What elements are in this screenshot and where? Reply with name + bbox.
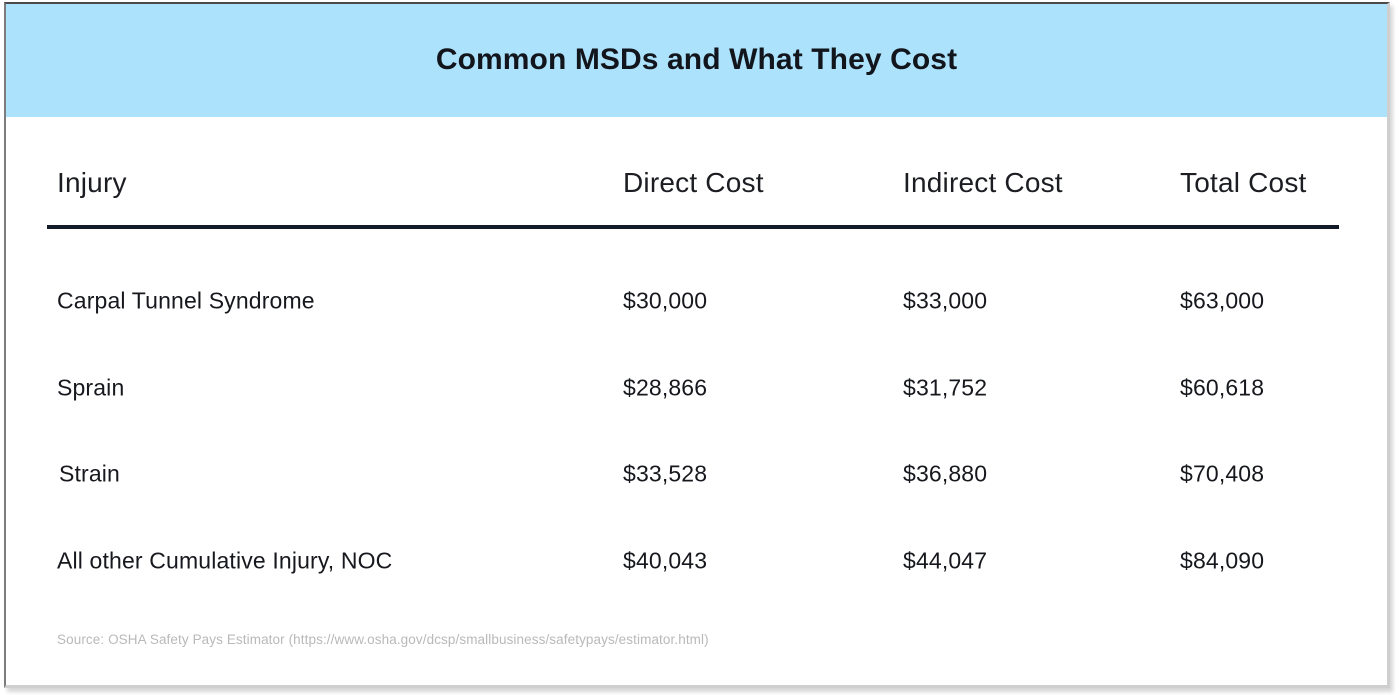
cell-injury: Sprain [57,375,124,402]
column-header-total-cost: Total Cost [1180,167,1307,199]
cell-indirect-cost: $36,880 [903,461,987,488]
source-citation: Source: OSHA Safety Pays Estimator (http… [57,632,709,647]
page-title: Common MSDs and What They Cost [436,43,957,77]
cost-table: Injury Direct Cost Indirect Cost Total C… [6,117,1387,685]
cell-total-cost: $70,408 [1180,461,1264,488]
cell-direct-cost: $30,000 [623,288,707,315]
column-header-injury: Injury [57,167,127,199]
cell-injury: Carpal Tunnel Syndrome [57,288,315,315]
cell-indirect-cost: $33,000 [903,288,987,315]
cell-injury: All other Cumulative Injury, NOC [57,548,392,575]
cell-direct-cost: $28,866 [623,375,707,402]
cell-total-cost: $84,090 [1180,548,1264,575]
cell-total-cost: $60,618 [1180,375,1264,402]
cell-indirect-cost: $44,047 [903,548,987,575]
cell-indirect-cost: $31,752 [903,375,987,402]
cell-direct-cost: $40,043 [623,548,707,575]
cell-total-cost: $63,000 [1180,288,1264,315]
card-title-band: Common MSDs and What They Cost [6,4,1387,117]
column-header-indirect-cost: Indirect Cost [903,167,1063,199]
column-header-direct-cost: Direct Cost [623,167,764,199]
cell-injury: Strain [59,461,120,488]
header-divider-rule [47,225,1339,229]
cost-table-card: Common MSDs and What They Cost Injury Di… [4,2,1390,688]
cell-direct-cost: $33,528 [623,461,707,488]
